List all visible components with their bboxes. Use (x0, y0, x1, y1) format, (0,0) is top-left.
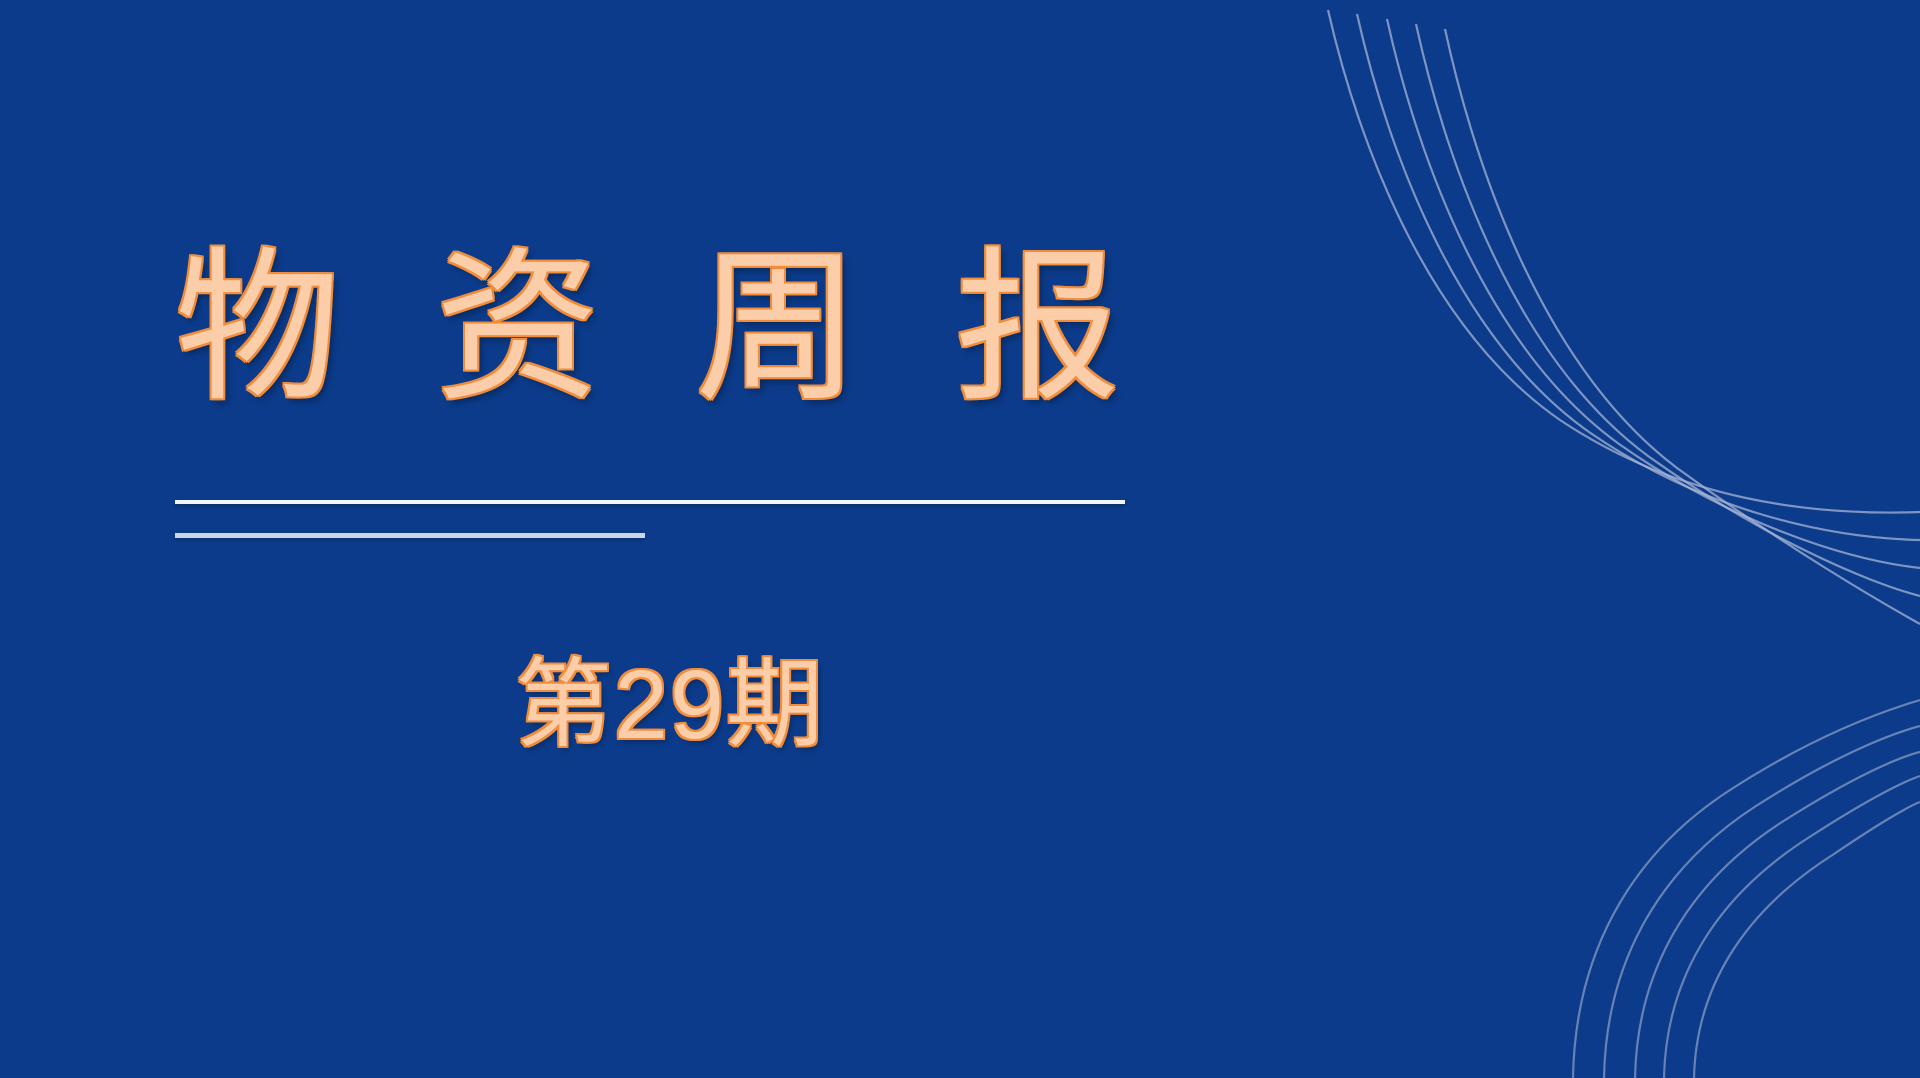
title-block: 物资周报 (175, 228, 1275, 429)
swoosh-line-bottom-2 (1604, 726, 1920, 1078)
swoosh-lines-top-right-group (1328, 10, 1920, 624)
swoosh-line-top-4 (1416, 24, 1920, 596)
swoosh-line-top-2 (1357, 14, 1920, 540)
swoosh-line-bottom-3 (1635, 752, 1920, 1078)
page-title: 物资周报 (175, 228, 1275, 429)
top-right-decoration (0, 0, 1920, 1078)
swoosh-line-top-5 (1445, 29, 1920, 624)
title-rule-group (175, 500, 1125, 538)
subtitle-block: 第29期 (175, 648, 1165, 762)
swoosh-lines-bottom-right-group (1573, 700, 1920, 1078)
swoosh-line-bottom-1 (1573, 700, 1920, 1078)
swoosh-line-bottom-5 (1694, 802, 1920, 1078)
title-rule-secondary (175, 533, 645, 538)
title-rule-primary (175, 500, 1125, 504)
swoosh-line-top-3 (1387, 19, 1920, 568)
issue-number: 第29期 (515, 648, 825, 762)
swoosh-line-bottom-4 (1664, 776, 1920, 1078)
cover-slide: 物资周报 第29期 (0, 0, 1920, 1078)
swoosh-line-top-1 (1328, 10, 1920, 513)
